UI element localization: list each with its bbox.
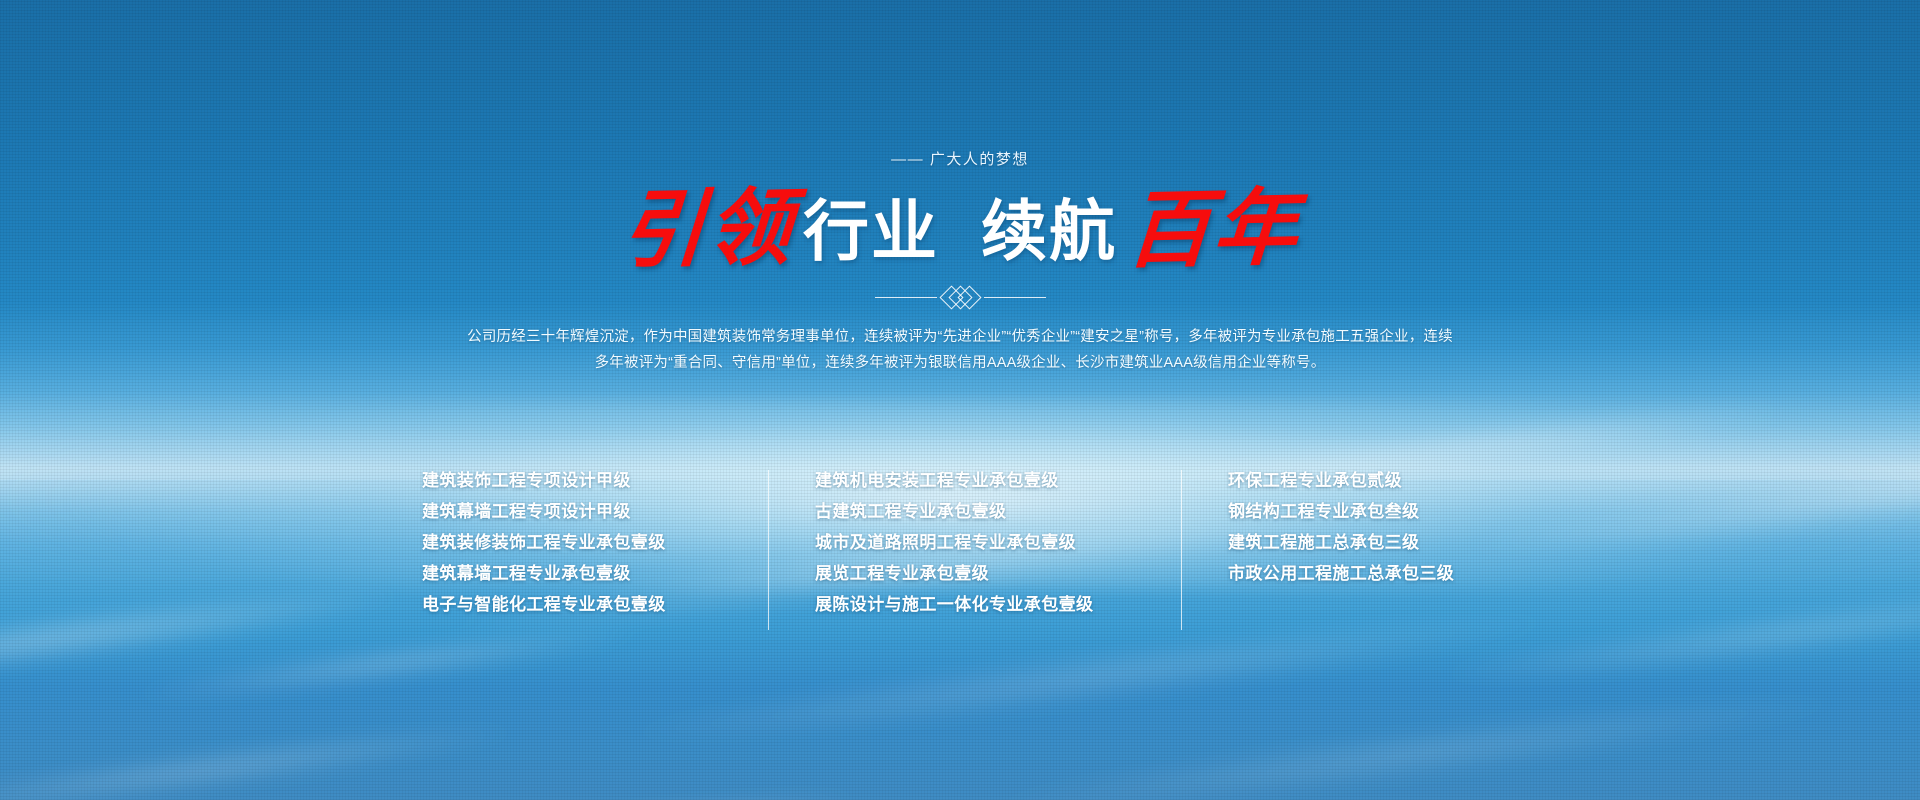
qualification-item: 市政公用工程施工总承包三级 [1228, 563, 1498, 585]
qualification-column-3: 环保工程专业承包贰级 钢结构工程专业承包叁级 建筑工程施工总承包三级 市政公用工… [1181, 470, 1544, 630]
banner-kicker: —— 广大人的梦想 [891, 148, 1029, 169]
qualification-item: 展陈设计与施工一体化专业承包壹级 [815, 594, 1135, 616]
qualification-item: 古建筑工程专业承包壹级 [815, 501, 1135, 523]
headline-part-bainian: 百年 [1124, 185, 1302, 273]
qualification-item: 电子与智能化工程专业承包壹级 [422, 594, 722, 616]
qualification-column-1: 建筑装饰工程专项设计甲级 建筑幕墙工程专项设计甲级 建筑装修装饰工程专业承包壹级… [376, 470, 768, 616]
qualification-item: 建筑装修装饰工程专业承包壹级 [422, 532, 722, 554]
divider-diamonds [947, 289, 974, 306]
qualification-item: 建筑工程施工总承包三级 [1228, 532, 1498, 554]
banner-description: 公司历经三十年辉煌沉淀，作为中国建筑装饰常务理事单位，连续被评为“先进企业”“优… [430, 324, 1490, 376]
qualification-item: 环保工程专业承包贰级 [1228, 470, 1498, 492]
qualification-item: 建筑机电安装工程专业承包壹级 [815, 470, 1135, 492]
qualification-column-2: 建筑机电安装工程专业承包壹级 古建筑工程专业承包壹级 城市及道路照明工程专业承包… [768, 470, 1181, 630]
hero-banner: —— 广大人的梦想 引领 行业 续航 百年 公司历经三十年辉煌沉淀，作为中国建筑… [0, 0, 1920, 800]
qualification-item: 展览工程专业承包壹级 [815, 563, 1135, 585]
headline-part-yinling: 引领 [618, 185, 796, 273]
description-line-2: 多年被评为“重合同、守信用”单位，连续多年被评为银联信用AAA级企业、长沙市建筑… [430, 350, 1490, 376]
diamond-divider-icon [875, 289, 1046, 306]
qualification-item: 建筑装饰工程专项设计甲级 [422, 470, 722, 492]
qualification-list: 建筑装饰工程专项设计甲级 建筑幕墙工程专项设计甲级 建筑装修装饰工程专业承包壹级… [0, 470, 1920, 630]
qualification-item: 钢结构工程专业承包叁级 [1228, 501, 1498, 523]
headline-part-hangye: 行业 [803, 198, 939, 264]
banner-content: —— 广大人的梦想 引领 行业 续航 百年 公司历经三十年辉煌沉淀，作为中国建筑… [0, 0, 1920, 800]
qualification-item: 建筑幕墙工程专项设计甲级 [422, 501, 722, 523]
banner-headline: 引领 行业 续航 百年 [621, 187, 1299, 271]
headline-part-xuhang: 续航 [981, 198, 1117, 264]
qualification-item: 城市及道路照明工程专业承包壹级 [815, 532, 1135, 554]
description-line-1: 公司历经三十年辉煌沉淀，作为中国建筑装饰常务理事单位，连续被评为“先进企业”“优… [430, 324, 1490, 350]
divider-rule-right [984, 297, 1046, 298]
qualification-item: 建筑幕墙工程专业承包壹级 [422, 563, 722, 585]
divider-rule-left [875, 297, 937, 298]
